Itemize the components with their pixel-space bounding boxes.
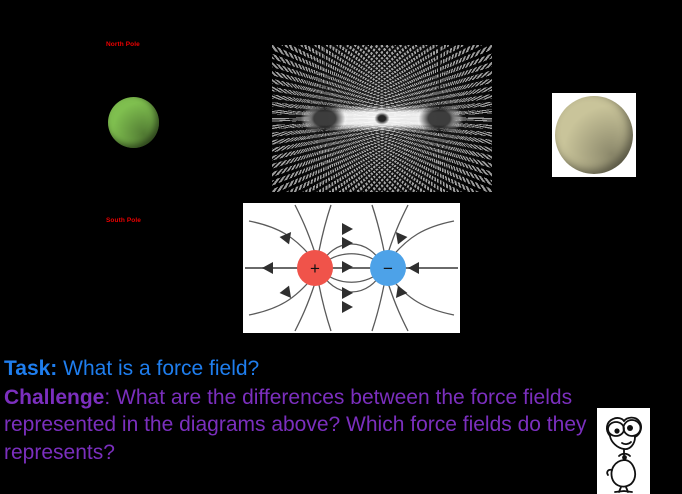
thinking-character-doodle	[597, 408, 650, 494]
earth-globe-icon	[555, 96, 633, 174]
slide-canvas: North Pole South Pole	[0, 0, 682, 494]
bar-magnet-iron-filings-image	[272, 45, 492, 192]
south-pole-label: South Pole	[106, 217, 141, 224]
electric-dipole-diagram: + −	[243, 203, 460, 333]
challenge-paragraph: Challenge: What are the differences betw…	[4, 384, 604, 467]
task-line: Task: What is a force field?	[4, 355, 604, 383]
thinker-svg	[597, 408, 650, 494]
positive-charge-label: +	[310, 259, 320, 278]
magnetic-earth-figure: North Pole South Pole	[0, 0, 270, 250]
task-question: What is a force field?	[57, 357, 259, 380]
earth-globe-icon	[108, 97, 159, 148]
north-pole-label: North Pole	[106, 41, 140, 48]
prompt-text-block: Task: What is a force field? Challenge: …	[4, 355, 604, 467]
task-label: Task:	[4, 357, 57, 380]
negative-charge-label: −	[383, 259, 393, 278]
challenge-label: Challenge	[4, 386, 104, 409]
dipole-svg: + −	[243, 203, 460, 333]
gravity-field-figure	[492, 30, 682, 220]
